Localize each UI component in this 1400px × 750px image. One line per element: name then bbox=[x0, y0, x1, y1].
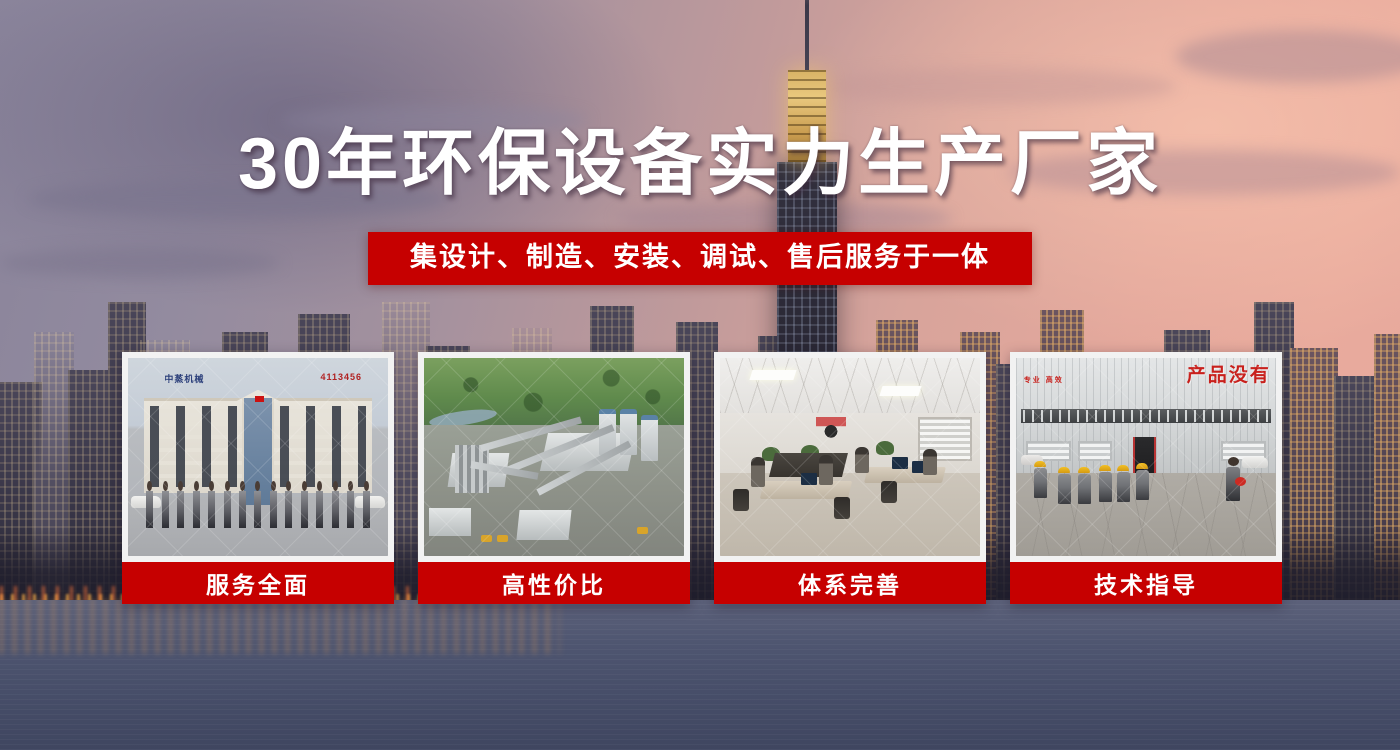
promotional-banner: 30年环保设备实力生产厂家 集设计、制造、安装、调试、售后服务于一体 中蒸机械 … bbox=[0, 0, 1400, 750]
page-title: 30年环保设备实力生产厂家 bbox=[0, 128, 1400, 200]
building-phone-text: 4113456 bbox=[320, 372, 362, 382]
feature-card-label: 高性价比 bbox=[418, 562, 690, 604]
factory-sign-small: 专业 高效 bbox=[1024, 376, 1064, 387]
subtitle-banner: 集设计、制造、安装、调试、售后服务于一体 bbox=[368, 232, 1032, 285]
office-interior-photo bbox=[720, 358, 980, 556]
company-headquarters-photo: 中蒸机械 4113456 bbox=[128, 358, 388, 556]
building-sign-text: 中蒸机械 bbox=[164, 372, 204, 385]
water-reflection bbox=[0, 598, 560, 654]
ceiling-light bbox=[880, 386, 922, 396]
workers-training-photo: 专业 高效 产品没有 bbox=[1016, 358, 1276, 556]
feature-card[interactable]: 专业 高效 产品没有 技术指导 bbox=[1010, 352, 1282, 604]
feature-card-row: 中蒸机械 4113456 服务全面 bbox=[122, 352, 1282, 604]
wall-emblem bbox=[816, 417, 846, 441]
supervisor bbox=[1226, 457, 1240, 501]
feature-card[interactable]: 中蒸机械 4113456 服务全面 bbox=[122, 352, 394, 604]
feature-card-label: 服务全面 bbox=[122, 562, 394, 604]
tower-antenna-spire bbox=[805, 0, 809, 70]
cloud bbox=[1176, 30, 1400, 83]
feature-card[interactable]: 高性价比 bbox=[418, 352, 690, 604]
cloud bbox=[812, 68, 1176, 106]
staff-lineup bbox=[146, 481, 370, 529]
feature-card-label: 技术指导 bbox=[1010, 562, 1282, 604]
feature-card[interactable]: 体系完善 bbox=[714, 352, 986, 604]
flag-icon bbox=[255, 396, 264, 402]
ceiling-light bbox=[750, 370, 797, 380]
factory-sign-large: 产品没有 bbox=[1187, 366, 1271, 385]
feature-card-label: 体系完善 bbox=[714, 562, 986, 604]
aerial-industrial-plant-photo bbox=[424, 358, 684, 556]
